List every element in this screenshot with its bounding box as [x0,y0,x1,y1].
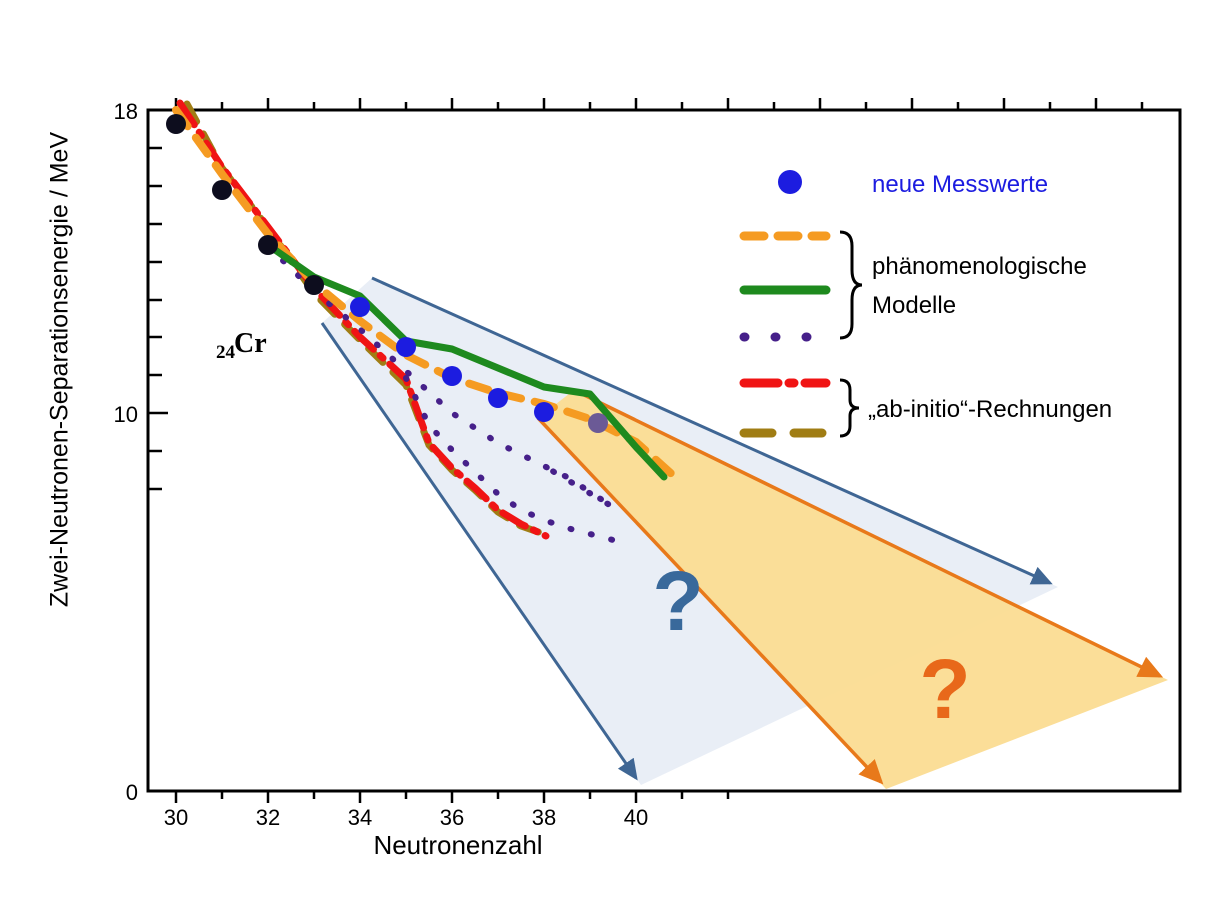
nuclide-label-symbol: Cr [234,328,267,359]
x-tick-label-34: 34 [348,805,372,830]
y-axis-ticks [148,110,168,791]
y-axis-label: Zwei-Neutronen-Separationsenergie / MeV [46,50,75,690]
x-tick-label-30: 30 [164,805,188,830]
x-tick-label-36: 36 [440,805,464,830]
x-tick-label-32: 32 [256,805,280,830]
y-tick-label-18: 18 [114,99,138,124]
x-tick-label-38: 38 [532,805,556,830]
legend-brace-pheno [840,232,862,338]
legend-label-abinitio: „ab-initio“-Rechnungen [868,396,1112,423]
x-axis-ticks-top [176,98,1142,110]
x-tick-label-40: 40 [624,805,648,830]
series-preliminary-measurement [588,413,608,433]
legend: neue Messwerte phänomenologische Modelle… [744,170,1112,436]
nuclide-label: 24 Cr [216,328,267,363]
blue-question-mark: ? [652,554,703,648]
legend-label-measured: neue Messwerte [872,171,1048,198]
legend-brace-abinitio [840,380,859,436]
x-axis-label: Neutronenzahl [148,830,768,861]
figure-root: 18 10 0 30 32 34 36 38 40 [0,0,1209,907]
x-axis-ticks-bottom [176,791,728,803]
legend-marker-measured [778,170,802,194]
chart-svg: 18 10 0 30 32 34 36 38 40 [0,0,1209,907]
y-tick-label-0: 0 [126,780,138,805]
legend-label-pheno-line1: phänomenologische [872,253,1087,280]
legend-label-pheno-line2: Modelle [872,292,956,319]
y-tick-label-10: 10 [114,402,138,427]
nuclide-label-sub: 24 [216,342,236,363]
orange-question-mark: ? [919,642,970,736]
